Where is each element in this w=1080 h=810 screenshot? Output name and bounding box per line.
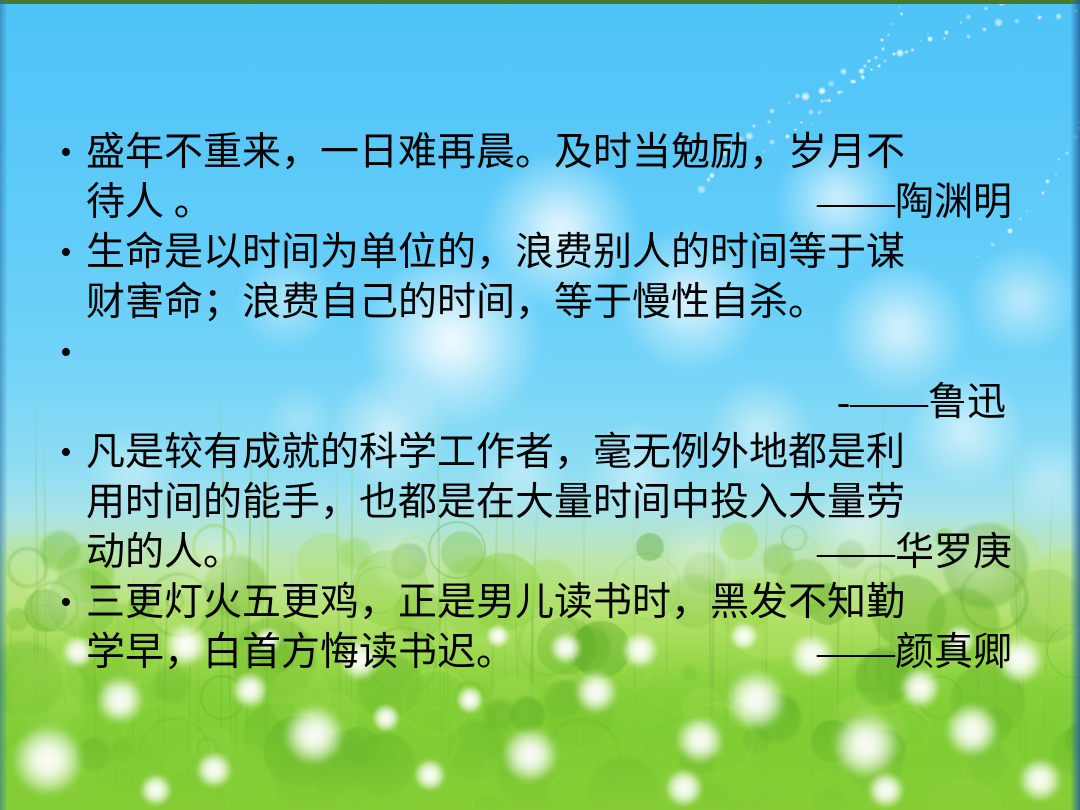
quote-line: 财害命；浪费自己的时间，等于慢性自杀。 <box>86 278 1012 328</box>
bullet-marker-icon: • <box>52 328 86 378</box>
presentation-slide: •盛年不重来，一日难再晨。及时当勉励，岁月不——陶渊明待人 。•生命是以时间为单… <box>0 0 1080 810</box>
quote-line: 用时间的能手，也都是在大量时间中投入大量劳 <box>86 478 1012 528</box>
quote-line: ——陶渊明待人 。 <box>86 178 1012 228</box>
quote-attribution: -——鲁迅 <box>86 378 1012 428</box>
bullet-marker-icon: • <box>52 428 86 478</box>
quote-text: 三更灯火五更鸡，正是男儿读书时，黑发不知勤——颜真卿学早，白首方悔读书迟。 <box>86 578 1012 678</box>
quote-attribution: ——华罗庚 <box>817 528 1012 578</box>
quote-line <box>86 328 1012 378</box>
quote-attribution: ——颜真卿 <box>817 628 1012 678</box>
quote-line: ——华罗庚动的人。 <box>86 528 1012 578</box>
quote-bullet-quote-lu-xun: •生命是以时间为单位的，浪费别人的时间等于谋财害命；浪费自己的时间，等于慢性自杀… <box>52 228 1012 328</box>
quote-line: 凡是较有成就的科学工作者，毫无例外地都是利 <box>86 428 1012 478</box>
quote-text: -——鲁迅 <box>86 328 1012 428</box>
quote-line: 生命是以时间为单位的，浪费别人的时间等于谋 <box>86 228 1012 278</box>
quote-line: ——颜真卿学早，白首方悔读书迟。 <box>86 628 1012 678</box>
quote-bullet-quote-tao-yuanming: •盛年不重来，一日难再晨。及时当勉励，岁月不——陶渊明待人 。 <box>52 128 1012 228</box>
quote-text: 盛年不重来，一日难再晨。及时当勉励，岁月不——陶渊明待人 。 <box>86 128 1012 228</box>
bullet-marker-icon: • <box>52 128 86 178</box>
quote-line: 盛年不重来，一日难再晨。及时当勉励，岁月不 <box>86 128 1012 178</box>
bullet-marker-icon: • <box>52 578 86 628</box>
quote-bullet-quote-yan-zhenqing: •三更灯火五更鸡，正是男儿读书时，黑发不知勤——颜真卿学早，白首方悔读书迟。 <box>52 578 1012 678</box>
slide-body-text: •盛年不重来，一日难再晨。及时当勉励，岁月不——陶渊明待人 。•生命是以时间为单… <box>52 128 1012 678</box>
bullet-marker-icon: • <box>52 228 86 278</box>
quote-text: 凡是较有成就的科学工作者，毫无例外地都是利用时间的能手，也都是在大量时间中投入大… <box>86 428 1012 578</box>
slide-top-border <box>0 0 1080 4</box>
quote-text: 生命是以时间为单位的，浪费别人的时间等于谋财害命；浪费自己的时间，等于慢性自杀。 <box>86 228 1012 328</box>
grass-foreground <box>0 660 1080 810</box>
quote-bullet-quote-hua-luogeng: •凡是较有成就的科学工作者，毫无例外地都是利用时间的能手，也都是在大量时间中投入… <box>52 428 1012 578</box>
slide-right-border <box>1071 0 1080 810</box>
slide-left-border <box>0 0 7 810</box>
quote-line: 三更灯火五更鸡，正是男儿读书时，黑发不知勤 <box>86 578 1012 628</box>
quote-attribution: ——陶渊明 <box>817 178 1012 228</box>
quote-bullet-quote-lu-xun-attrib: •-——鲁迅 <box>52 328 1012 428</box>
